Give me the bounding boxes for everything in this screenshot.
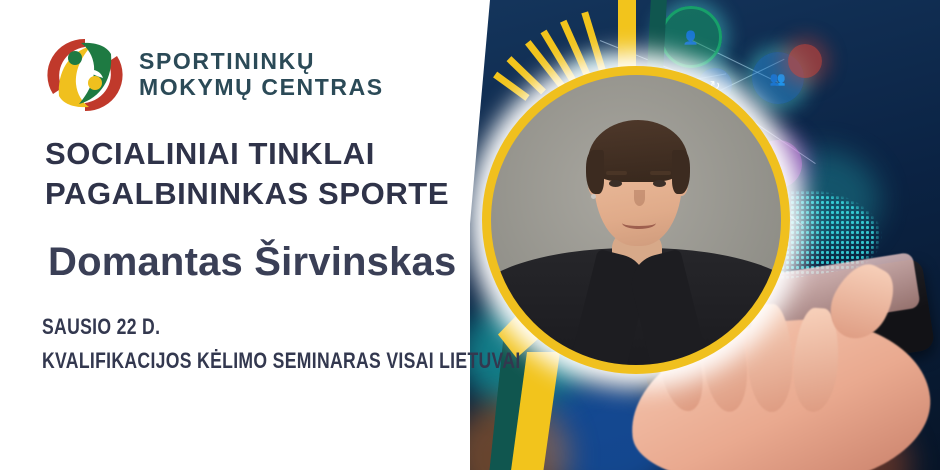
portrait-hair-side-right (672, 150, 690, 194)
headline-line-1: SOCIALINIAI TINKLAI (45, 134, 449, 174)
event-date: SAUSIO 22 D. (42, 310, 521, 344)
portrait-eye-left (609, 180, 622, 187)
logo-emblem-icon (45, 36, 125, 114)
portrait-nose (634, 190, 645, 206)
portrait-brow-left (606, 171, 627, 175)
speaker-name: Domantas Širvinskas (48, 240, 456, 285)
event-description: KVALIFIKACIJOS KĖLIMO SEMINARAS VISAI LI… (42, 344, 521, 378)
brand-logo[interactable]: SPORTININKŲ MOKYMŲ CENTRAS (45, 36, 384, 114)
portrait-mouth (622, 217, 656, 229)
portrait-brow-right (650, 171, 671, 175)
promotional-banner: 👤 👤 ↻ 👥 👤 (0, 0, 940, 470)
headline-line-2: PAGALBININKAS SPORTE (45, 174, 449, 214)
headline: SOCIALINIAI TINKLAI PAGALBININKAS SPORTE (45, 134, 449, 213)
person-glyph: 👤 (683, 31, 699, 44)
event-details: SAUSIO 22 D. KVALIFIKACIJOS KĖLIMO SEMIN… (42, 310, 640, 378)
logo-wordmark: SPORTININKŲ MOKYMŲ CENTRAS (139, 49, 384, 101)
portrait-eye-right (653, 180, 666, 187)
portrait-hair-side-left (586, 150, 604, 194)
logo-line-2: MOKYMŲ CENTRAS (139, 75, 384, 101)
logo-line-1: SPORTININKŲ (139, 49, 384, 75)
portrait-earring (591, 194, 596, 199)
node-red (788, 44, 822, 78)
